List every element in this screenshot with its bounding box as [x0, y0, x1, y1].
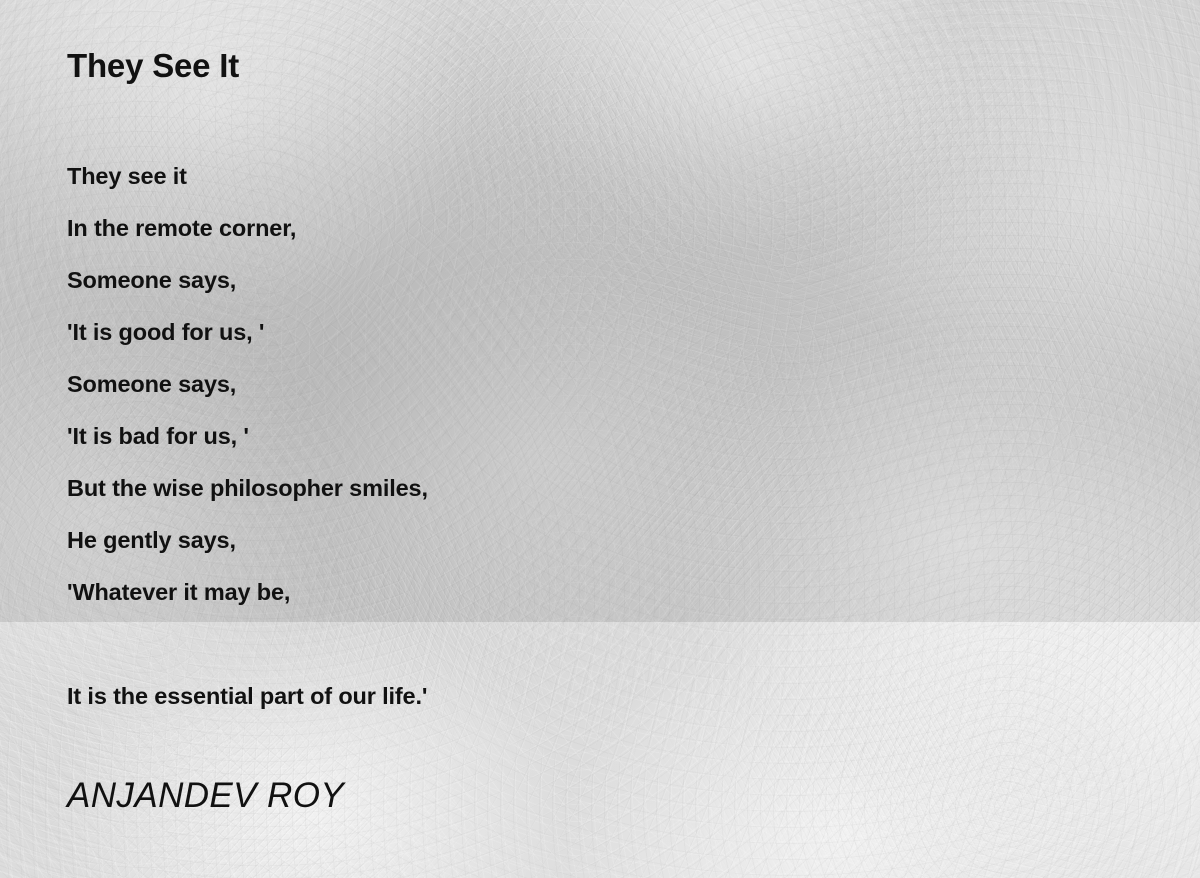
poem-line: 'It is bad for us, ' [67, 410, 1067, 462]
poem-line: Someone says, [67, 254, 1067, 306]
poem-line: 'Whatever it may be, [67, 566, 1067, 618]
poem-line: It is the essential part of our life.' [67, 670, 1067, 722]
poem-line: They see it [67, 150, 1067, 202]
poem-card: They See It They see it In the remote co… [0, 0, 1200, 878]
poem-line: He gently says, [67, 514, 1067, 566]
poem-line: Someone says, [67, 358, 1067, 410]
poem-line: In the remote corner, [67, 202, 1067, 254]
poem-title: They See It [67, 48, 239, 85]
poem-author: ANJANDEV ROY [67, 776, 344, 816]
poem-body: They see it In the remote corner, Someon… [67, 150, 1067, 722]
poem-line: But the wise philosopher smiles, [67, 462, 1067, 514]
poem-line: 'It is good for us, ' [67, 306, 1067, 358]
poem-content: They See It They see it In the remote co… [67, 0, 1127, 878]
poem-line-blank [67, 618, 1067, 670]
